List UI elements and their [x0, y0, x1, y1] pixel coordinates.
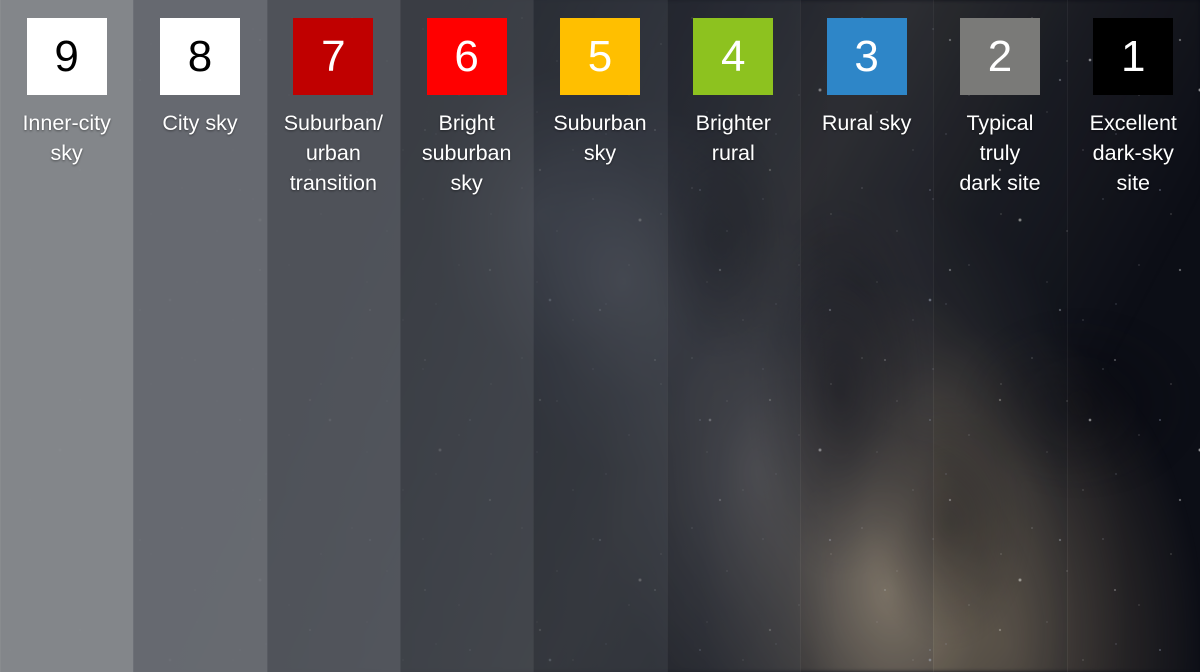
panel-header: 4 Brighter rural	[667, 0, 800, 168]
bortle-number-7: 7	[321, 35, 345, 79]
bortle-number-3: 3	[854, 35, 878, 79]
bortle-swatch-1[interactable]: 1	[1093, 18, 1173, 95]
bortle-caption-3: Rural sky	[804, 108, 930, 138]
bortle-caption-9: Inner-city sky	[4, 108, 130, 168]
bortle-swatch-3[interactable]: 3	[827, 18, 907, 95]
panel-header: 1 Excellent dark-sky site	[1067, 0, 1200, 198]
panel-header: 2 Typical truly dark site	[933, 0, 1066, 198]
bortle-number-5: 5	[588, 35, 612, 79]
bortle-number-8: 8	[188, 35, 212, 79]
bortle-panel-3[interactable]: 3 Rural sky	[800, 0, 933, 672]
bortle-caption-6: Bright suburban sky	[404, 108, 530, 198]
bortle-caption-7: Suburban/ urban transition	[270, 108, 396, 198]
bortle-swatch-5[interactable]: 5	[560, 18, 640, 95]
bortle-panel-8[interactable]: 8 City sky	[133, 0, 266, 672]
bortle-panel-6[interactable]: 6 Bright suburban sky	[400, 0, 533, 672]
bortle-number-4: 4	[721, 35, 745, 79]
panel-header: 6 Bright suburban sky	[400, 0, 533, 198]
panel-header: 3 Rural sky	[800, 0, 933, 138]
panel-header: 5 Suburban sky	[533, 0, 666, 168]
bortle-panel-2[interactable]: 2 Typical truly dark site	[933, 0, 1066, 672]
bortle-number-1: 1	[1121, 35, 1145, 79]
bortle-caption-4: Brighter rural	[670, 108, 796, 168]
bortle-caption-2: Typical truly dark site	[937, 108, 1063, 198]
bortle-swatch-7[interactable]: 7	[293, 18, 373, 95]
bortle-swatch-4[interactable]: 4	[693, 18, 773, 95]
bortle-panel-7[interactable]: 7 Suburban/ urban transition	[267, 0, 400, 672]
bortle-swatch-6[interactable]: 6	[427, 18, 507, 95]
bortle-panel-1[interactable]: 1 Excellent dark-sky site	[1067, 0, 1200, 672]
bortle-panel-9[interactable]: 9 Inner-city sky	[0, 0, 133, 672]
bortle-number-2: 2	[988, 35, 1012, 79]
bortle-caption-1: Excellent dark-sky site	[1070, 108, 1196, 198]
bortle-panel-4[interactable]: 4 Brighter rural	[667, 0, 800, 672]
bortle-caption-8: City sky	[137, 108, 263, 138]
panel-header: 8 City sky	[133, 0, 266, 138]
bortle-scale-figure: 9 Inner-city sky 8 City sky 7 Sub	[0, 0, 1200, 672]
bortle-caption-5: Suburban sky	[537, 108, 663, 168]
bortle-swatch-9[interactable]: 9	[27, 18, 107, 95]
panel-header: 7 Suburban/ urban transition	[267, 0, 400, 198]
bortle-swatch-2[interactable]: 2	[960, 18, 1040, 95]
bortle-panel-strip: 9 Inner-city sky 8 City sky 7 Sub	[0, 0, 1200, 672]
bortle-number-9: 9	[54, 35, 78, 79]
bortle-swatch-8[interactable]: 8	[160, 18, 240, 95]
panel-header: 9 Inner-city sky	[0, 0, 133, 168]
bortle-number-6: 6	[454, 35, 478, 79]
bortle-panel-5[interactable]: 5 Suburban sky	[533, 0, 666, 672]
